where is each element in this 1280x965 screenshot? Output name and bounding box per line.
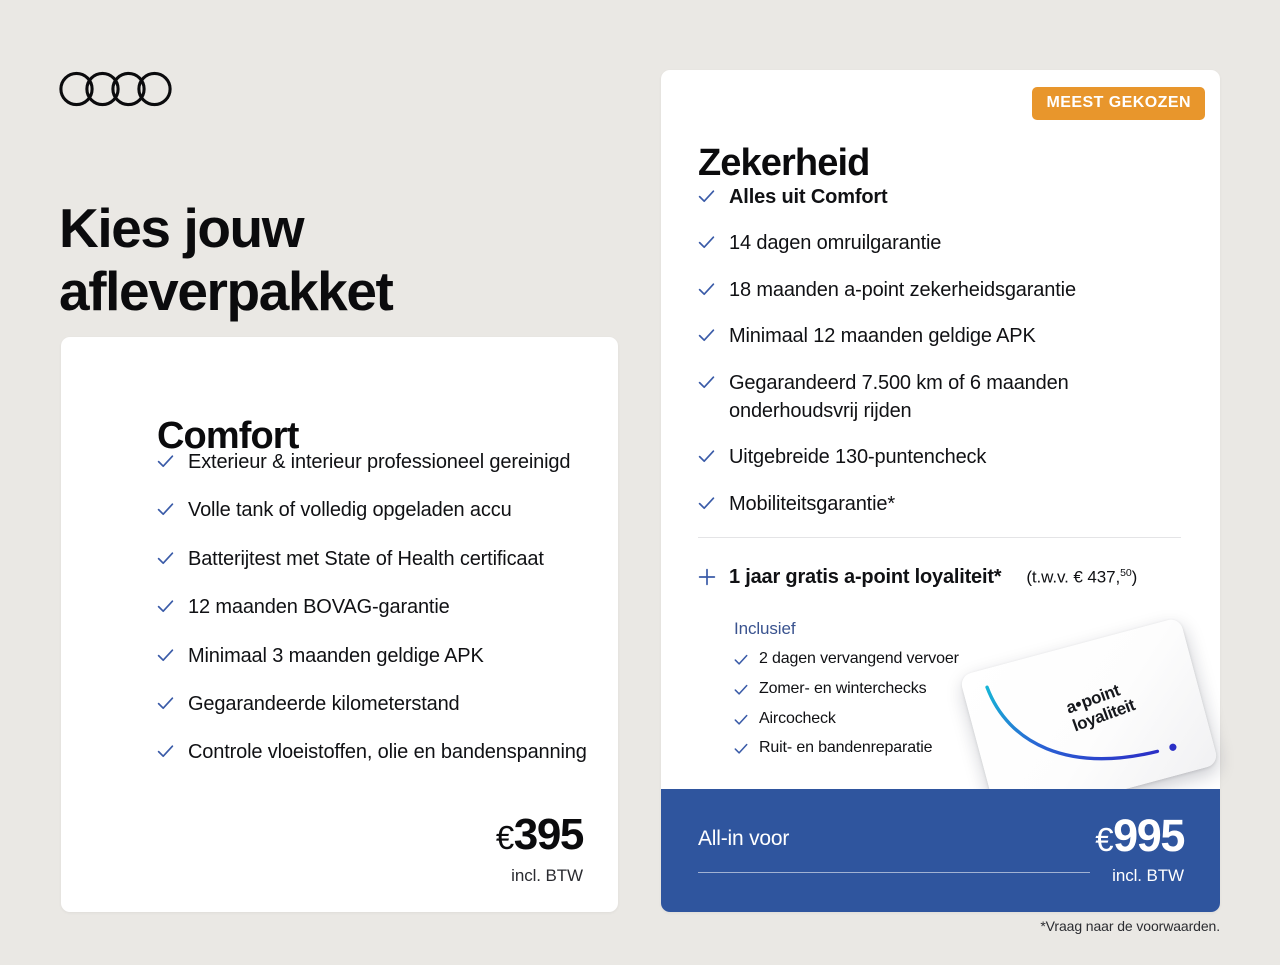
feature-label: Controle vloeistoffen, olie en bandenspa… (188, 738, 587, 766)
check-icon (698, 448, 715, 465)
price-amount: 395 (514, 810, 583, 859)
bonus-value-prefix: (t.w.v. € 437, (1026, 568, 1120, 587)
feature-label: Exterieur & interieur professioneel gere… (188, 448, 570, 476)
list-item: Alles uit Comfort (698, 183, 1178, 211)
check-icon (157, 501, 174, 518)
comfort-feature-list: Exterieur & interieur professioneel gere… (157, 448, 587, 767)
list-item: Uitgebreide 130-puntencheck (698, 443, 1178, 471)
comfort-price: €395 (496, 813, 583, 857)
price-amount: 995 (1113, 810, 1184, 861)
zekerheid-price-note: incl. BTW (1095, 866, 1184, 886)
page-title-line-2: afleverpakket (59, 260, 619, 323)
list-item: Minimaal 12 maanden geldige APK (698, 322, 1178, 350)
feature-label: Batterijtest met State of Health certifi… (188, 545, 544, 573)
check-icon (698, 188, 715, 205)
page-title-line-1: Kies jouw (59, 197, 619, 260)
zekerheid-price-block: €995 incl. BTW (1095, 813, 1184, 886)
list-item: 18 maanden a-point zekerheidsgarantie (698, 276, 1178, 304)
feature-label: Minimaal 3 maanden geldige APK (188, 642, 484, 670)
zekerheid-feature-list: Alles uit Comfort 14 dagen omruilgaranti… (698, 183, 1178, 536)
comfort-price-note: incl. BTW (496, 866, 583, 886)
list-item: Minimaal 3 maanden geldige APK (157, 642, 587, 670)
list-item: 12 maanden BOVAG-garantie (157, 593, 587, 621)
status-badge: MEEST GEKOZEN (1032, 87, 1205, 120)
feature-label: Volle tank of volledig opgeladen accu (188, 496, 512, 524)
zekerheid-price-footer: All-in voor €995 incl. BTW (661, 789, 1220, 912)
list-item: Gegarandeerde kilometerstand (157, 690, 587, 718)
feature-label: Uitgebreide 130-puntencheck (729, 443, 986, 471)
check-icon (698, 374, 715, 391)
feature-label: 12 maanden BOVAG-garantie (188, 593, 450, 621)
check-icon (157, 695, 174, 712)
list-item: Batterijtest met State of Health certifi… (157, 545, 587, 573)
check-icon (698, 281, 715, 298)
check-icon (157, 550, 174, 567)
comfort-price-block: €395 incl. BTW (496, 813, 583, 886)
list-item: 14 dagen omruilgarantie (698, 229, 1178, 257)
feature-label: Aircocheck (759, 709, 836, 730)
feature-label: Ruit- en bandenreparatie (759, 738, 932, 759)
package-card-comfort[interactable]: Comfort Exterieur & interieur profession… (61, 337, 618, 912)
list-item: Volle tank of volledig opgeladen accu (157, 496, 587, 524)
currency-symbol: € (1095, 821, 1113, 858)
pricing-page: Kies jouw afleverpakket Comfort Exterieu… (0, 0, 1280, 965)
allin-rule (698, 872, 1090, 873)
check-icon (734, 713, 748, 727)
feature-label: Gegarandeerd 7.500 km of 6 maanden onder… (729, 369, 1178, 426)
feature-label: 18 maanden a-point zekerheidsgarantie (729, 276, 1076, 304)
currency-symbol: € (496, 819, 514, 856)
check-icon (734, 742, 748, 756)
list-item: 2 dagen vervangend vervoer (734, 649, 1014, 670)
page-title: Kies jouw afleverpakket (59, 197, 619, 322)
bonus-row: 1 jaar gratis a-point loyaliteit* (t.w.v… (698, 565, 1193, 589)
check-icon (157, 453, 174, 470)
list-item: Gegarandeerd 7.500 km of 6 maanden onder… (698, 369, 1178, 426)
plus-icon (698, 568, 716, 586)
feature-label: Gegarandeerde kilometerstand (188, 690, 460, 718)
feature-label: 2 dagen vervangend vervoer (759, 649, 959, 670)
check-icon (734, 683, 748, 697)
check-icon (698, 327, 715, 344)
feature-label: Alles uit Comfort (729, 183, 888, 211)
list-item: Exterieur & interieur professioneel gere… (157, 448, 587, 476)
zekerheid-price: €995 (1095, 813, 1184, 858)
feature-label: 14 dagen omruilgarantie (729, 229, 941, 257)
list-item: Controle vloeistoffen, olie en bandenspa… (157, 738, 587, 766)
footnote: *Vraag naar de voorwaarden. (1040, 918, 1220, 934)
list-item: Mobiliteitsgarantie* (698, 490, 1178, 518)
inclusief-label: Inclusief (734, 619, 795, 639)
list-item: Ruit- en bandenreparatie (734, 738, 1014, 759)
bonus-value: (t.w.v. € 437,50) (1026, 567, 1137, 588)
check-icon (157, 598, 174, 615)
feature-label: Mobiliteitsgarantie* (729, 490, 895, 518)
section-divider (698, 537, 1181, 538)
feature-label: Minimaal 12 maanden geldige APK (729, 322, 1036, 350)
check-icon (734, 653, 748, 667)
feature-label: Zomer- en winterchecks (759, 679, 926, 700)
bonus-label: 1 jaar gratis a-point loyaliteit* (729, 566, 1001, 589)
bonus-value-superscript: 50 (1120, 567, 1131, 579)
zekerheid-title: Zekerheid (698, 142, 869, 185)
audi-rings-logo (59, 71, 189, 107)
allin-label: All-in voor (698, 827, 789, 851)
bonus-value-suffix: ) (1132, 568, 1138, 587)
check-icon (698, 495, 715, 512)
check-icon (157, 743, 174, 760)
check-icon (698, 234, 715, 251)
check-icon (157, 647, 174, 664)
